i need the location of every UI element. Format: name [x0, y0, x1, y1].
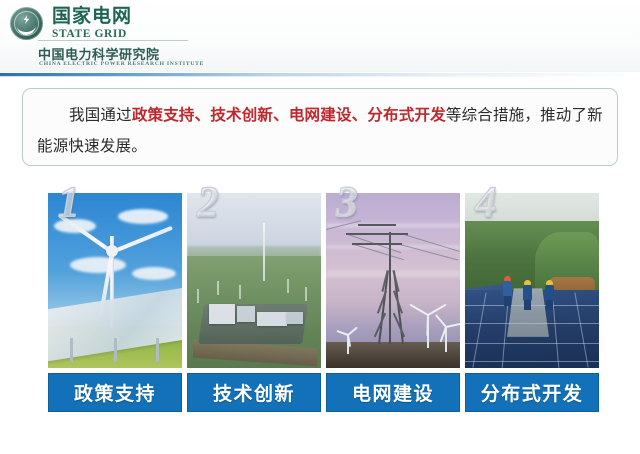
state-grid-emblem-icon — [10, 7, 43, 40]
callout-separator-1: 、 — [195, 106, 211, 124]
callout-separator-3: 、 — [352, 106, 368, 124]
measure-card-row: 1 政策支持 2 技术创新 — [48, 193, 593, 412]
card-number-2: 2 — [197, 181, 219, 225]
callout-text: 我国通过政策支持、技术创新、电网建设、分布式开发等综合措施，推动了新能源快速发展… — [23, 89, 617, 162]
measure-card-1[interactable]: 1 政策支持 — [48, 193, 182, 412]
card-number-4: 4 — [475, 181, 497, 225]
institute-name-en: CHINA ELECTRIC POWER RESEARCH INSTITUTE — [39, 61, 204, 67]
lightning-bolt-icon — [23, 15, 30, 24]
brand-name-cn: 国家电网 — [52, 6, 132, 27]
callout-separator-2: 、 — [273, 106, 289, 124]
card-number-1: 1 — [58, 181, 80, 225]
callout-highlight-1: 政策支持 — [132, 106, 195, 124]
page-header: 国家电网 STATE GRID 中国电力科学研究院 CHINA ELECTRIC… — [0, 0, 640, 72]
header-accent-rule-secondary — [0, 76, 640, 77]
measure-card-4[interactable]: 4 分布式开发 — [465, 193, 599, 412]
card-label-1[interactable]: 政策支持 — [48, 373, 182, 412]
callout-box: 我国通过政策支持、技术创新、电网建设、分布式开发等综合措施，推动了新能源快速发展… — [22, 88, 618, 166]
callout-lead: 我国通过 — [69, 106, 132, 124]
card-label-2[interactable]: 技术创新 — [187, 373, 321, 412]
brand-text-block: 国家电网 STATE GRID — [52, 6, 132, 41]
callout-highlight-2: 技术创新 — [210, 106, 273, 124]
callout-highlight-3: 电网建设 — [289, 106, 352, 124]
brand-divider — [38, 40, 188, 41]
measure-card-2[interactable]: 2 技术创新 — [187, 193, 321, 412]
brand-logo: 国家电网 STATE GRID — [10, 6, 132, 41]
callout-highlight-4: 分布式开发 — [367, 106, 446, 124]
card-label-3[interactable]: 电网建设 — [326, 373, 460, 412]
measure-card-3[interactable]: 3 电网建设 — [326, 193, 460, 412]
card-number-3: 3 — [336, 181, 358, 225]
card-label-4[interactable]: 分布式开发 — [465, 373, 599, 412]
